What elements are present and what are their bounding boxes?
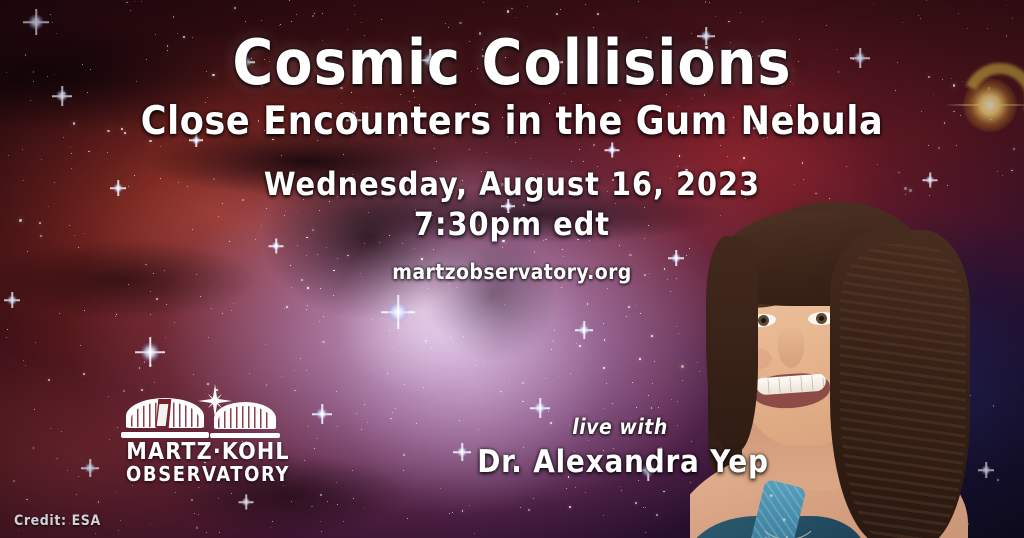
martz-kohl-observatory-logo[interactable]: MARTZ·KOHL OBSERVATORY bbox=[120, 382, 296, 480]
speaker-portrait bbox=[690, 196, 1024, 538]
nose bbox=[778, 326, 804, 368]
dome-base bbox=[121, 432, 208, 438]
website-link[interactable]: martzobservatory.org bbox=[392, 260, 631, 284]
dome-base bbox=[210, 433, 279, 438]
logo-type-line: OBSERVATORY bbox=[126, 462, 290, 486]
pupil-left bbox=[761, 318, 766, 323]
image-credit: Credit: ESA bbox=[14, 513, 101, 529]
observatory-dome-open-icon bbox=[126, 398, 204, 438]
hair-strands bbox=[840, 244, 966, 538]
poster-title: Cosmic Collisions bbox=[232, 26, 791, 99]
pupil-right bbox=[819, 316, 824, 321]
necklace-chain bbox=[756, 486, 820, 538]
event-date: Wednesday, August 16, 2023 bbox=[264, 165, 760, 203]
event-time: 7:30pm edt bbox=[414, 205, 610, 243]
hair-side-left bbox=[706, 236, 758, 452]
poster-subtitle: Close Encounters in the Gum Nebula bbox=[141, 99, 883, 144]
four-point-star-icon bbox=[198, 384, 232, 418]
speaker-name: Dr. Alexandra Yep bbox=[477, 444, 769, 480]
live-with-label: live with bbox=[572, 415, 668, 439]
event-poster: Cosmic Collisions Close Encounters in th… bbox=[0, 0, 1024, 538]
